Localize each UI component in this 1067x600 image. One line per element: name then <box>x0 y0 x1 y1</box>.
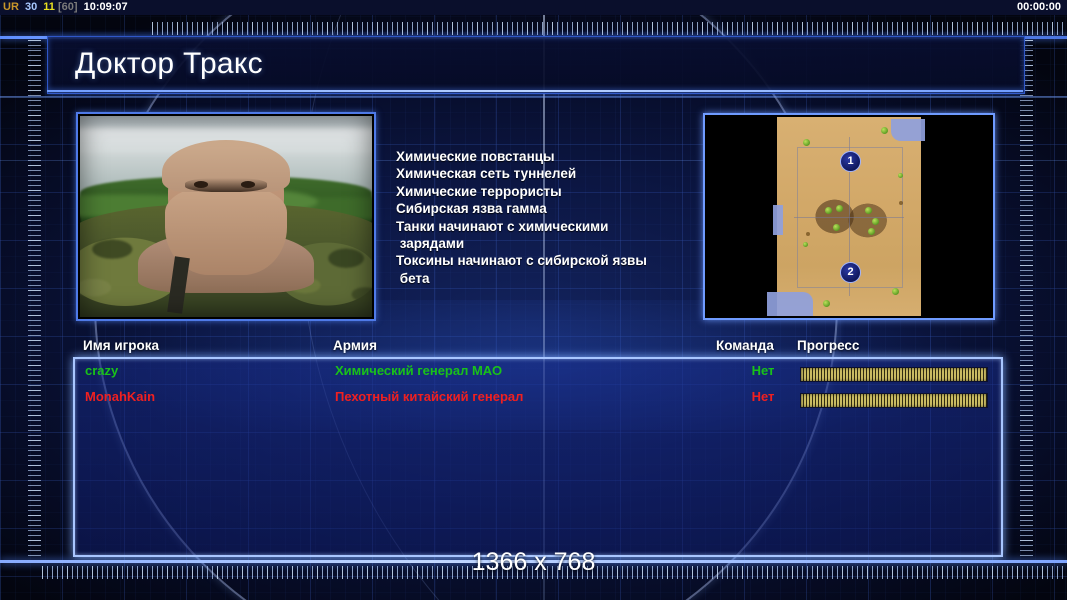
map-minimap: 1 2 <box>777 117 921 316</box>
general-description: Химические повстанцыХимическая сеть тунн… <box>396 148 696 287</box>
map-start-position-1[interactable]: 1 <box>840 151 861 172</box>
general-portrait-photo <box>80 116 372 317</box>
status-ping-max: [60] <box>58 1 78 13</box>
status-timer: 00:00:00 <box>1017 0 1061 15</box>
player-army: Пехотный китайский генерал <box>335 389 523 404</box>
header-team: Команда <box>716 338 774 353</box>
map-preview-frame[interactable]: 1 2 <box>703 113 995 320</box>
status-bar: UR 30 11 [60] 10:09:07 00:00:00 <box>0 0 1067 15</box>
player-list-panel: crazyХимический генерал МАОНетMonahKainП… <box>73 357 1003 557</box>
player-progress-bar <box>800 393 988 408</box>
description-line: Токсины начинают с сибирской язвы бета <box>396 252 696 287</box>
player-name: MonahKain <box>85 389 155 404</box>
description-line: Химические террористы <box>396 183 696 200</box>
header-player-name: Имя игрока <box>83 338 159 353</box>
ruler-right <box>1020 40 1033 560</box>
ruler-top <box>152 22 1067 35</box>
player-name: crazy <box>85 363 118 378</box>
status-clock: 10:09:07 <box>81 1 128 13</box>
status-ping: 11 <box>40 1 55 13</box>
table-row[interactable]: crazyХимический генерал МАОНет <box>75 363 1001 387</box>
player-progress-bar <box>800 367 988 382</box>
general-portrait-frame <box>76 112 376 321</box>
title-panel: Доктор Тракс <box>47 36 1025 94</box>
player-list-headers: Имя игрока Армия Команда Прогресс <box>0 338 1067 358</box>
header-progress: Прогресс <box>797 338 859 353</box>
player-team: Нет <box>735 389 791 404</box>
description-line: Химическая сеть туннелей <box>396 165 696 182</box>
game-lobby-screen: UR 30 11 [60] 10:09:07 00:00:00 Доктор Т… <box>0 0 1067 600</box>
resolution-overlay: 1366 x 768 <box>0 548 1067 577</box>
background-horizontal-line-upper <box>0 96 1067 98</box>
description-line: Танки начинают с химическими зарядами <box>396 218 696 253</box>
ruler-left <box>28 40 41 560</box>
player-team: Нет <box>735 363 791 378</box>
status-fps: 30 <box>22 1 37 13</box>
header-army: Армия <box>333 338 377 353</box>
map-preview-inner: 1 2 <box>707 117 991 316</box>
title-underline <box>47 90 1023 92</box>
description-line: Сибирская язва гамма <box>396 200 696 217</box>
table-row[interactable]: MonahKainПехотный китайский генералНет <box>75 389 1001 413</box>
player-army: Химический генерал МАО <box>335 363 502 378</box>
page-title: Доктор Тракс <box>75 47 263 81</box>
description-line: Химические повстанцы <box>396 148 696 165</box>
status-ur-label: UR <box>0 1 19 13</box>
